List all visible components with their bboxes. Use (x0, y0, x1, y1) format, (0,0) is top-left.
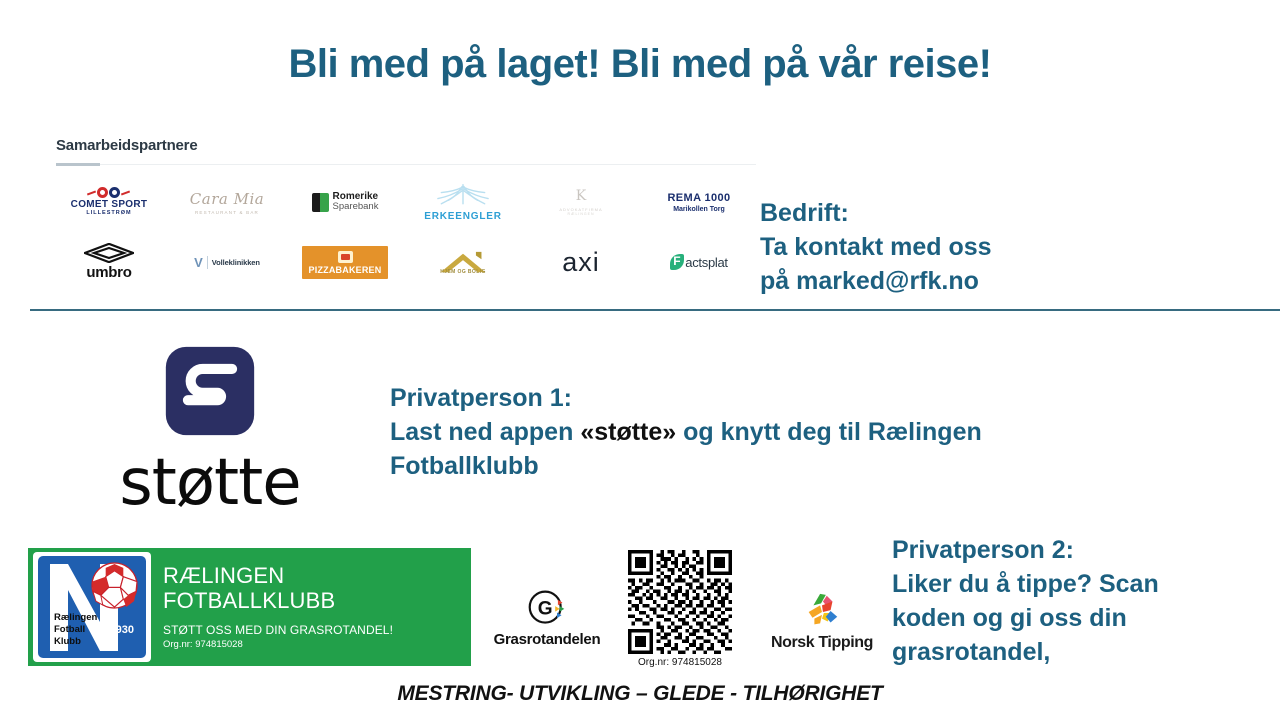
partner-logo-grid: COMET SPORT LILLESTRØM Cara Mia RESTAURA… (50, 172, 758, 292)
partner-logo-pizzabakeren[interactable]: PIZZABAKEREN (286, 232, 404, 292)
stotte-app-name: «støtte» (580, 418, 676, 446)
privatperson-1-line-3: Fotballklubb (390, 449, 1120, 483)
angel-wings-icon (424, 183, 502, 209)
crest-name-line-1: Rælingen (54, 612, 97, 624)
bedrift-line-2: Ta kontakt med oss (760, 230, 992, 264)
club-banner-title-line-2: FOTBALLKLUBB (163, 589, 393, 613)
partners-divider-long (56, 164, 756, 165)
partners-divider (56, 163, 100, 166)
rema-sublabel: Marikollen Torg (667, 206, 730, 213)
stotte-logo-block[interactable]: støtte (60, 345, 360, 515)
club-banner-text: RÆLINGEN FOTBALLKLUBB STØTT OSS MED DIN … (163, 564, 393, 649)
rema-label: REMA 1000 (667, 192, 730, 204)
pizzabakeren-mark-icon (338, 251, 353, 263)
comet-rings-icon (71, 187, 148, 198)
privatperson-1-block: Privatperson 1: Last ned appen «støtte» … (390, 381, 1120, 483)
crest-year: 1930 (110, 624, 134, 636)
club-banner-org-nr: Org.nr: 974815028 (163, 639, 393, 650)
privatperson-2-block: Privatperson 2: Liker du å tippe? Scan k… (892, 533, 1232, 669)
privatperson-1-line-2: Last ned appen «støtte» og knytt deg til… (390, 415, 1120, 449)
comet-sport-label: COMET SPORT (71, 200, 148, 210)
partner-logo-axi[interactable]: axi (522, 232, 640, 292)
cara-mia-sublabel: RESTAURANT & BAR (190, 210, 264, 215)
privatperson-2-heading: Privatperson 2: (892, 533, 1232, 567)
volleklinikken-label: Volleklinikken (212, 258, 260, 267)
partner-logo-comet-sport[interactable]: COMET SPORT LILLESTRØM (50, 172, 168, 232)
page-title: Bli med på laget! Bli med på vår reise! (0, 42, 1280, 87)
crest-name-line-2: Fotball (54, 624, 97, 636)
script-logo-label: K (559, 188, 602, 204)
crest-club-name: Rælingen Fotball Klubb (54, 612, 97, 648)
axi-label: axi (562, 249, 600, 276)
grasrotandelen-label: Grasrotandelen (487, 631, 607, 648)
gold-roof-sublabel: HJEM OG BOLIG (435, 269, 491, 275)
partner-logo-romerike-sparebank[interactable]: Romerike Sparebank (286, 172, 404, 232)
stotte-wordmark: støtte (60, 451, 360, 515)
qr-code-icon[interactable] (628, 550, 732, 654)
umbro-diamond-icon (84, 243, 134, 263)
slide-footer: MESTRING- UTVIKLING – GLEDE - TILHØRIGHE… (0, 682, 1280, 706)
club-banner-subtitle: STØTT OSS MED DIN GRASROTANDEL! (163, 623, 393, 637)
club-crest: 1930 Rælingen Fotball Klubb (33, 552, 151, 662)
umbro-label: umbro (84, 264, 134, 281)
partner-logo-factsplat[interactable]: actsplat (640, 232, 758, 292)
script-logo-sublabel-2: RÆLINGEN (559, 212, 602, 216)
partner-logo-umbro[interactable]: umbro (50, 232, 168, 292)
norsk-tipping-icon (801, 592, 843, 632)
grasrotandelen-logo[interactable]: G Grasrotandelen (487, 588, 607, 648)
svg-text:G: G (538, 598, 553, 619)
privatperson-2-line-2: Liker du å tippe? Scan (892, 567, 1232, 601)
pizzabakeren-label: PIZZABAKEREN (309, 265, 382, 275)
section-divider (30, 309, 1280, 311)
comet-sport-sublabel: LILLESTRØM (71, 211, 148, 217)
norsk-tipping-label: Norsk Tipping (760, 634, 884, 652)
partner-logo-script[interactable]: K ADVOKATFIRMA RÆLINGEN (522, 172, 640, 232)
football-icon (91, 562, 138, 609)
partners-card: Samarbeidspartnere COMET SPORT LILLESTRØ… (40, 125, 762, 300)
partner-logo-gold-roof[interactable]: HJEM OG BOLIG (404, 232, 522, 292)
qr-org-nr: Org.nr: 974815028 (628, 657, 732, 668)
privatperson-1-text-after: og knytt deg til Rælingen (676, 418, 982, 446)
stotte-app-icon (164, 345, 256, 437)
cara-mia-label: Cara Mia (190, 190, 264, 208)
bedrift-line-3: på marked@rfk.no (760, 264, 992, 298)
club-banner-title-line-1: RÆLINGEN (163, 564, 393, 588)
partner-logo-cara-mia[interactable]: Cara Mia RESTAURANT & BAR (168, 172, 286, 232)
partner-logo-volleklinikken[interactable]: V Volleklinikken (168, 232, 286, 292)
erkeengler-label: ERKEENGLER (424, 211, 502, 222)
volleklinikken-v-icon: V (194, 255, 203, 270)
privatperson-1-heading: Privatperson 1: (390, 381, 1120, 415)
privatperson-1-text-before: Last ned appen (390, 418, 580, 446)
partner-logo-erkeengler[interactable]: ERKEENGLER (404, 172, 522, 232)
factsplat-leaf-icon (670, 254, 684, 270)
privatperson-2-line-3: koden og gi oss din (892, 601, 1232, 635)
factsplat-label: actsplat (685, 255, 727, 270)
partners-heading: Samarbeidspartnere (56, 137, 197, 154)
norsk-tipping-logo[interactable]: Norsk Tipping (760, 592, 884, 652)
bedrift-line-1: Bedrift: (760, 196, 992, 230)
crest-name-line-3: Klubb (54, 636, 97, 648)
qr-block[interactable]: Org.nr: 974815028 (628, 550, 732, 668)
grasrotandelen-icon: G (527, 588, 567, 628)
bedrift-block: Bedrift: Ta kontakt med oss på marked@rf… (760, 196, 992, 298)
romerike-sublabel: Sparebank (333, 202, 379, 212)
romerike-mark-icon (312, 193, 329, 212)
partner-logo-rema-1000[interactable]: REMA 1000 Marikollen Torg (640, 172, 758, 232)
privatperson-2-line-4: grasrotandel, (892, 635, 1232, 669)
club-banner[interactable]: 1930 Rælingen Fotball Klubb RÆLINGEN FOT… (28, 548, 471, 666)
